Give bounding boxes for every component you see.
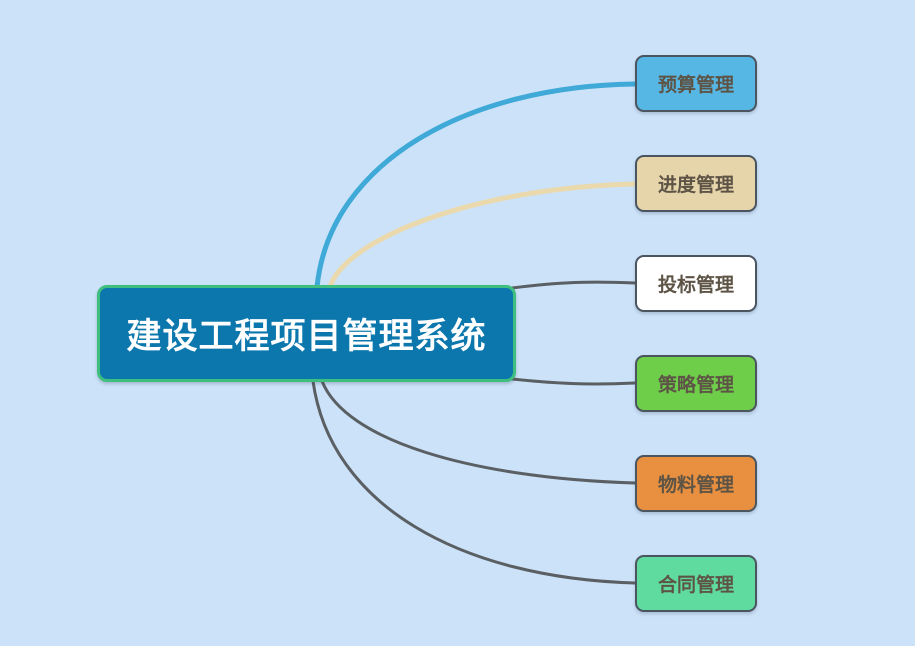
connector-to-bidding	[512, 282, 635, 288]
branch-node-bidding[interactable]: 投标管理	[635, 255, 757, 312]
branch-node-label: 物料管理	[658, 470, 734, 497]
branch-node-label: 投标管理	[658, 270, 734, 297]
connector-to-strategy	[512, 379, 635, 384]
root-node-label: 建设工程项目管理系统	[126, 308, 486, 359]
branch-node-label: 进度管理	[658, 170, 734, 197]
branch-node-label: 策略管理	[658, 370, 734, 397]
root-node[interactable]: 建设工程项目管理系统	[97, 285, 516, 382]
branch-node-label: 预算管理	[658, 70, 734, 97]
branch-node-schedule[interactable]: 进度管理	[635, 155, 757, 212]
connector-to-schedule	[330, 184, 635, 287]
connector-to-budget	[317, 84, 635, 287]
branch-node-label: 合同管理	[658, 570, 734, 597]
connector-to-contract	[313, 381, 635, 583]
branch-node-budget[interactable]: 预算管理	[635, 55, 757, 112]
connector-to-material	[322, 381, 635, 483]
branch-node-strategy[interactable]: 策略管理	[635, 355, 757, 412]
mindmap-canvas: 建设工程项目管理系统 预算管理 进度管理 投标管理 策略管理 物料管理 合同管理	[0, 0, 915, 646]
branch-node-material[interactable]: 物料管理	[635, 455, 757, 512]
branch-node-contract[interactable]: 合同管理	[635, 555, 757, 612]
